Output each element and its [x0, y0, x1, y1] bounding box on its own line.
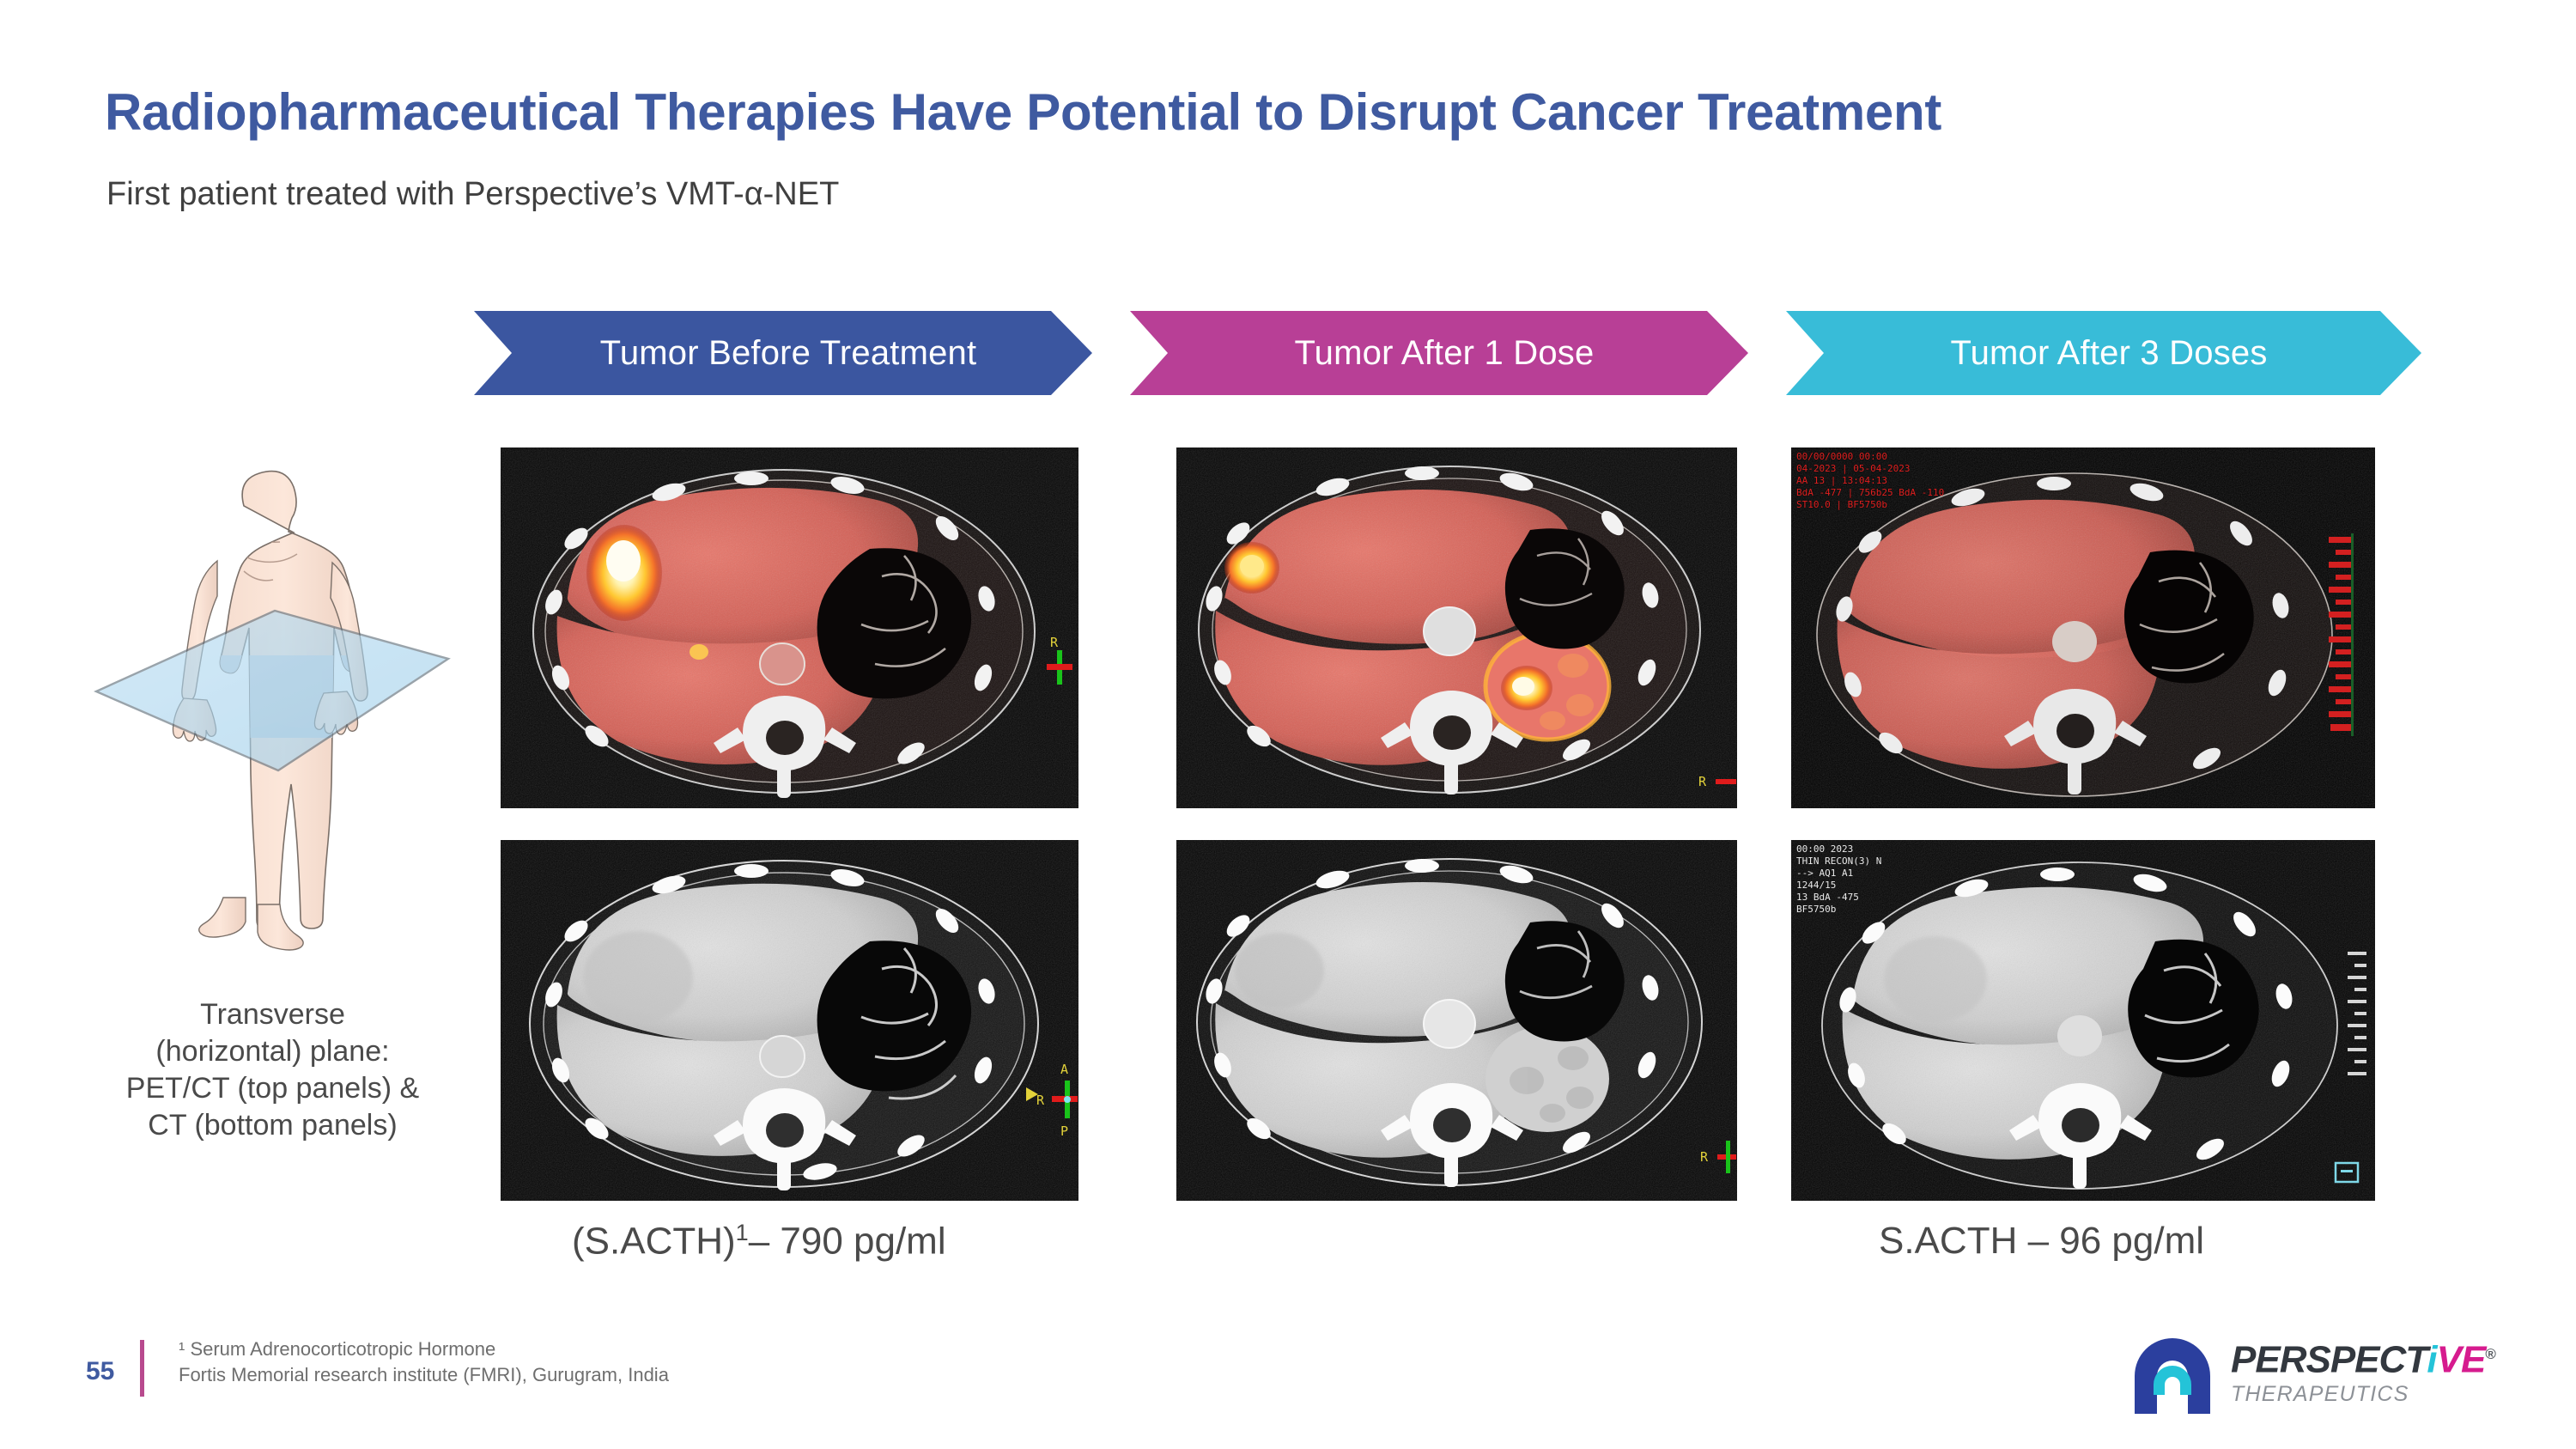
banner-label: Tumor After 3 Doses	[1950, 334, 2267, 373]
logo-subtitle: THERAPEUTICS	[2231, 1382, 2495, 1407]
scan-petct-before-treatment: R	[501, 447, 1078, 808]
banner-label: Tumor After 1 Dose	[1295, 334, 1595, 373]
page-number: 55	[86, 1357, 114, 1386]
logo-name: PERSPECTiVE®	[2231, 1335, 2495, 1380]
transverse-plane	[96, 611, 448, 770]
logo-registered-mark: ®	[2485, 1346, 2495, 1362]
acth-before-value: – 790 pg/ml	[749, 1221, 946, 1263]
svg-text:R: R	[1050, 635, 1059, 650]
footnote-line-2: Fortis Memorial research institute (FMRI…	[179, 1362, 669, 1388]
transverse-plane-illustration	[76, 434, 471, 962]
acth-before-label: (S.ACTH)	[572, 1221, 736, 1263]
scan-ct-before-treatment: A R P	[501, 840, 1078, 1201]
perspective-logo-mark	[2128, 1331, 2217, 1421]
logo-wordmark: PERSPECTiVE® THERAPEUTICS	[2231, 1335, 2495, 1407]
spleen	[1485, 1026, 1609, 1132]
page-title: Radiopharmaceutical Therapies Have Poten…	[105, 82, 2251, 142]
scan-ct-after-1-dose: R	[1176, 840, 1737, 1201]
acth-before-caption: (S.ACTH)1– 790 pg/ml	[572, 1220, 946, 1263]
logo-name-part1: PERSPECT	[2231, 1339, 2427, 1381]
svg-text:A: A	[1060, 1062, 1068, 1077]
footnote-line-1: ¹ Serum Adrenocorticotropic Hormone	[179, 1336, 669, 1362]
svg-text:R: R	[1036, 1093, 1045, 1108]
svg-text:P: P	[1060, 1123, 1068, 1139]
banner-label: Tumor Before Treatment	[600, 334, 977, 373]
logo-name-i: i	[2427, 1339, 2436, 1381]
banner-tumor-after-1-dose: Tumor After 1 Dose	[1130, 311, 1748, 395]
footnotes: ¹ Serum Adrenocorticotropic Hormone Fort…	[179, 1336, 669, 1388]
page-subtitle: First patient treated with Perspective’s…	[106, 176, 1996, 213]
svg-text:R: R	[1700, 1149, 1709, 1165]
company-logo: PERSPECTiVE® THERAPEUTICS	[2128, 1330, 2531, 1424]
footer-divider	[140, 1340, 144, 1397]
svg-text:R: R	[1698, 774, 1707, 789]
spleen-uptake	[1485, 633, 1609, 740]
plane-caption: Transverse (horizontal) plane: PET/CT (t…	[77, 996, 468, 1144]
scan-petct-after-1-dose: R	[1176, 447, 1737, 808]
plane-caption-line-2: (horizontal) plane:	[77, 1033, 468, 1070]
plane-caption-line-1: Transverse	[77, 996, 468, 1033]
acth-footnote-marker: 1	[736, 1220, 749, 1245]
acth-after-3-doses-caption: S.ACTH – 96 pg/ml	[1879, 1220, 2204, 1263]
banner-tumor-after-3-doses: Tumor After 3 Doses	[1786, 311, 2421, 395]
banner-tumor-before-treatment: Tumor Before Treatment	[474, 311, 1092, 395]
logo-name-ve: VE	[2437, 1339, 2486, 1381]
scan-ct-after-3-doses: 00:00 2023 THIN RECON(3) N --> AQ1 A1 12…	[1791, 840, 2375, 1201]
scan-petct-after-3-doses: 00/00/0000 00:00 04-2023 | 05-04-2023 AA…	[1791, 447, 2375, 808]
plane-caption-line-3: PET/CT (top panels) &	[77, 1070, 468, 1107]
plane-caption-line-4: CT (bottom panels)	[77, 1107, 468, 1144]
